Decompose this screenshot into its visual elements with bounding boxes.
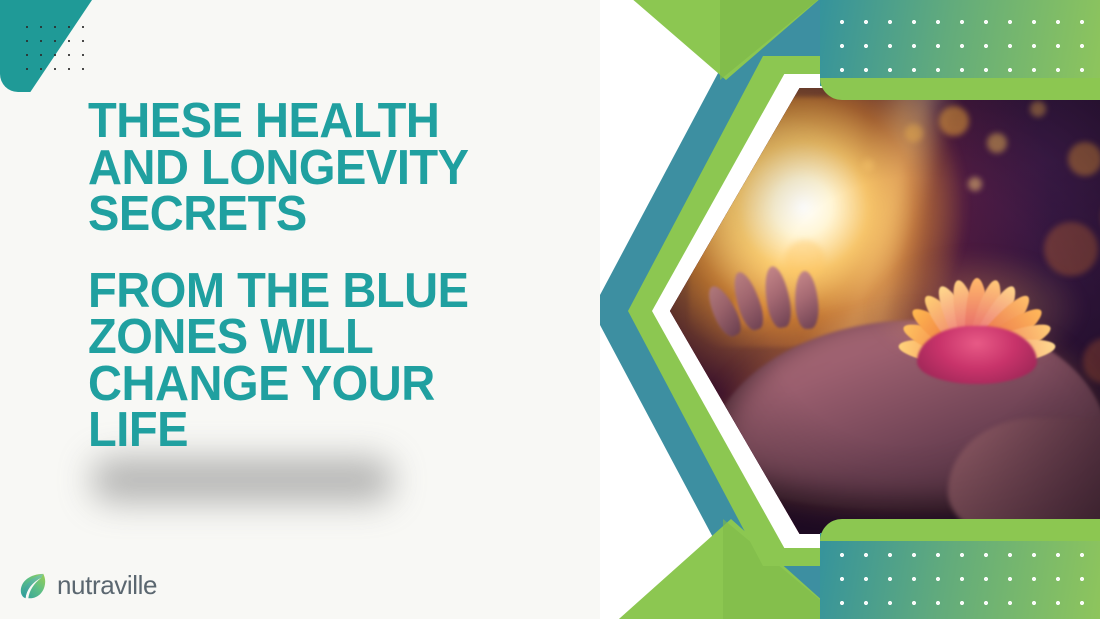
bottom-right-dot-band xyxy=(820,533,1100,619)
top-right-dot-band xyxy=(820,0,1100,86)
blog-hero-banner: THESE HEALTH AND LONGEVITY SECRETS FROM … xyxy=(0,0,1100,619)
title-line: FROM THE BLUE xyxy=(88,268,539,315)
title-shadow-blob xyxy=(92,458,392,502)
page-title: THESE HEALTH AND LONGEVITY SECRETS FROM … xyxy=(88,98,558,454)
title-line: LIFE xyxy=(88,407,539,454)
title-line: ZONES WILL xyxy=(88,314,539,361)
title-line: AND LONGEVITY xyxy=(88,145,539,192)
title-block-primary: THESE HEALTH AND LONGEVITY SECRETS xyxy=(88,98,558,238)
leaf-icon xyxy=(18,571,48,601)
top-right-green-band xyxy=(820,78,1100,100)
title-block-secondary: FROM THE BLUE ZONES WILL CHANGE YOUR LIF… xyxy=(88,268,558,454)
brand-name: nutraville xyxy=(57,570,157,601)
brand-logo[interactable]: nutraville xyxy=(18,570,157,601)
dot-grid-icon xyxy=(820,0,1100,86)
title-line: THESE HEALTH xyxy=(88,98,539,145)
dot-grid-icon xyxy=(820,533,1100,619)
title-line: SECRETS xyxy=(88,191,539,238)
title-line: CHANGE YOUR xyxy=(88,361,539,408)
bottom-right-green-band xyxy=(820,519,1100,541)
